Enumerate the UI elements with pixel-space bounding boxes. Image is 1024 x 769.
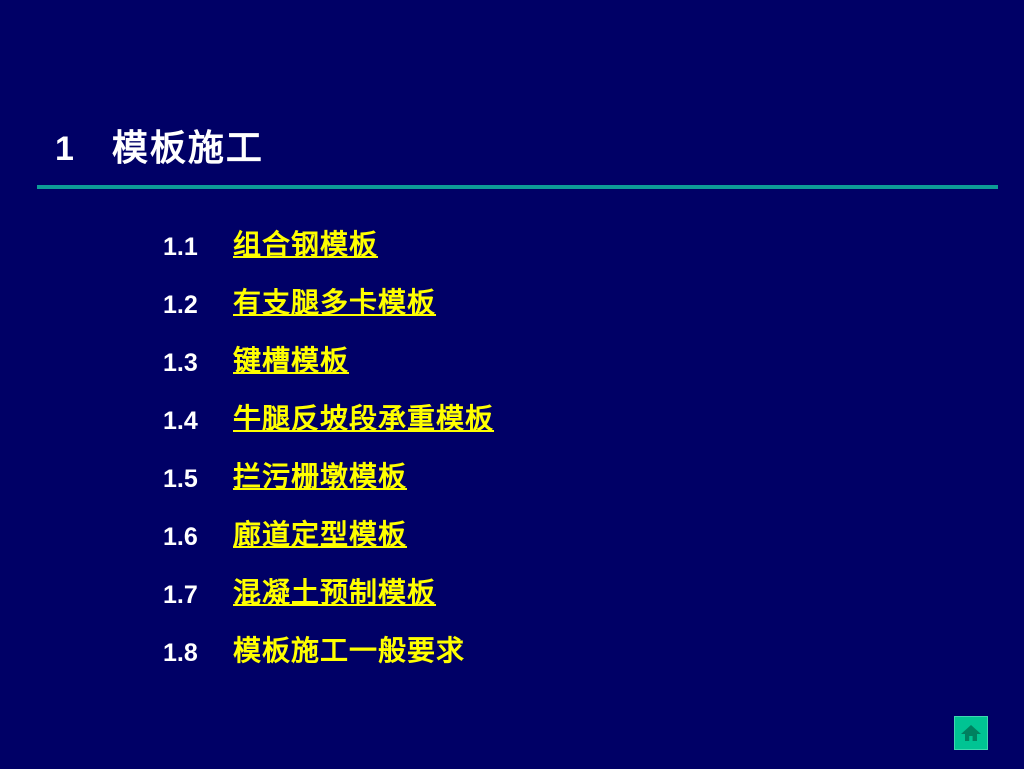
title-divider-rule xyxy=(37,185,998,189)
list-item-number: 1.7 xyxy=(163,578,198,612)
list-item-number: 1.3 xyxy=(163,346,198,380)
list-item[interactable]: 1.5 拦污栅墩模板 xyxy=(0,458,1024,516)
presentation-slide: 1 模板施工 1.1 组合钢模板 1.2 有支腿多卡模板 1.3 键槽模板 1.… xyxy=(0,0,1024,769)
list-item-number: 1.8 xyxy=(163,636,198,670)
list-item-link[interactable]: 拦污栅墩模板 xyxy=(233,458,407,496)
list-item[interactable]: 1.3 键槽模板 xyxy=(0,342,1024,400)
slide-title: 1 模板施工 xyxy=(55,126,264,171)
list-item-link[interactable]: 混凝土预制模板 xyxy=(233,574,436,612)
list-item-link[interactable]: 廊道定型模板 xyxy=(233,516,407,554)
list-item-number: 1.6 xyxy=(163,520,198,554)
list-item[interactable]: 1.6 廊道定型模板 xyxy=(0,516,1024,574)
home-icon xyxy=(960,723,982,743)
list-item-link[interactable]: 牛腿反坡段承重模板 xyxy=(233,400,494,438)
list-item-label: 模板施工一般要求 xyxy=(233,632,465,670)
list-item-link[interactable]: 键槽模板 xyxy=(233,342,349,380)
agenda-list: 1.1 组合钢模板 1.2 有支腿多卡模板 1.3 键槽模板 1.4 牛腿反坡段… xyxy=(0,226,1024,690)
slide-title-block: 1 模板施工 xyxy=(0,126,1024,188)
list-item-number: 1.4 xyxy=(163,404,198,438)
list-item-number: 1.2 xyxy=(163,288,198,322)
list-item[interactable]: 1.4 牛腿反坡段承重模板 xyxy=(0,400,1024,458)
home-button[interactable] xyxy=(954,716,988,750)
list-item-number: 1.5 xyxy=(163,462,198,496)
list-item[interactable]: 1.1 组合钢模板 xyxy=(0,226,1024,284)
list-item-number: 1.1 xyxy=(163,230,198,264)
list-item: 1.8 模板施工一般要求 xyxy=(0,632,1024,690)
list-item[interactable]: 1.2 有支腿多卡模板 xyxy=(0,284,1024,342)
list-item-link[interactable]: 组合钢模板 xyxy=(233,226,378,264)
list-item-link[interactable]: 有支腿多卡模板 xyxy=(233,284,436,322)
list-item[interactable]: 1.7 混凝土预制模板 xyxy=(0,574,1024,632)
slide-title-number: 1 xyxy=(55,127,74,171)
page-title: 模板施工 xyxy=(112,126,264,170)
